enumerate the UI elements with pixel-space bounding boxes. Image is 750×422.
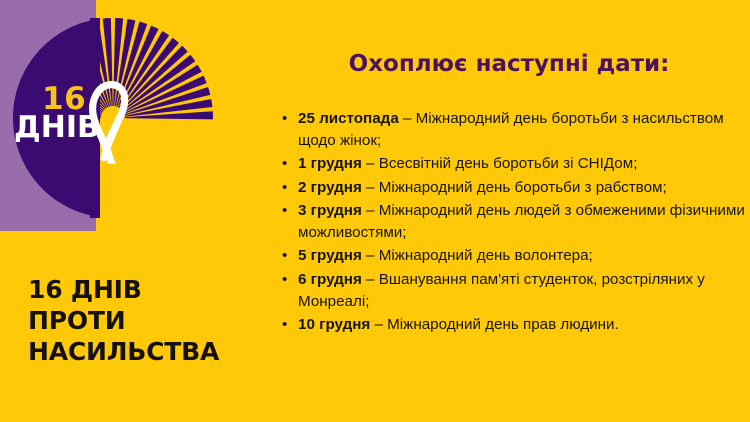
list-item: •5 грудня – Міжнародний день волонтера; [276, 245, 746, 267]
list-item: •6 грудня – Вшанування пам'яті студенток… [276, 269, 746, 312]
list-item-dash: – [362, 179, 379, 196]
sunburst-ray [124, 87, 210, 115]
list-item-dash: – [362, 155, 379, 172]
list-item-dash: – [362, 271, 379, 288]
list-item-text: Міжнародний день волонтера; [379, 247, 593, 264]
campaign-logo: 16 ДНІВ 16 ДНІВ ПРОТИ НАСИЛЬСТВА [0, 0, 240, 422]
bullet-icon: • [282, 245, 287, 266]
dates-list: •25 листопада – Міжнародний день боротьб… [276, 108, 746, 338]
list-item-dash: – [399, 110, 416, 127]
list-item: •2 грудня – Міжнародний день боротьби з … [276, 177, 746, 199]
list-item-date: 5 грудня [298, 247, 362, 264]
list-item-dash: – [370, 316, 387, 333]
list-item-date: 3 грудня [298, 202, 362, 219]
bullet-icon: • [282, 177, 287, 198]
page-title: Охоплює наступні дати: [268, 52, 750, 77]
bullet-icon: • [282, 153, 287, 174]
bullet-icon: • [282, 108, 287, 129]
list-item-text: Всесвітній день боротьби зі СНІДом; [379, 155, 638, 172]
list-item-date: 2 грудня [298, 179, 362, 196]
sunburst-ray [125, 111, 213, 119]
logo-mark: 16 ДНІВ [0, 0, 240, 240]
list-item: •10 грудня – Міжнародний день прав людин… [276, 314, 746, 336]
list-item: •25 листопада – Міжнародний день боротьб… [276, 108, 746, 151]
list-item-text: Міжнародний день боротьби з рабством; [379, 179, 667, 196]
logo-tagline: 16 ДНІВ ПРОТИ НАСИЛЬСТВА [28, 274, 278, 367]
list-item-dash: – [362, 247, 379, 264]
sunburst-ray [125, 99, 213, 117]
bullet-icon: • [282, 269, 287, 290]
bullet-icon: • [282, 200, 287, 221]
list-item: •3 грудня – Міжнародний день людей з обм… [276, 200, 746, 243]
sunburst-ray [124, 76, 207, 114]
list-item-date: 1 грудня [298, 155, 362, 172]
slide-canvas: 16 ДНІВ 16 ДНІВ ПРОТИ НАСИЛЬСТВА Охоплює… [0, 0, 750, 422]
list-item-date: 10 грудня [298, 316, 370, 333]
list-item-date: 25 листопада [298, 110, 399, 127]
list-item-dash: – [362, 202, 379, 219]
logo-word-dniv: ДНІВ [14, 113, 100, 143]
awareness-ribbon-icon [88, 78, 136, 164]
list-item-date: 6 грудня [298, 271, 362, 288]
content-area: Охоплює наступні дати: •25 листопада – М… [268, 0, 750, 422]
list-item-text: Міжнародний день прав людини. [387, 316, 619, 333]
list-item: •1 грудня – Всесвітній день боротьби зі … [276, 153, 746, 175]
bullet-icon: • [282, 314, 287, 335]
